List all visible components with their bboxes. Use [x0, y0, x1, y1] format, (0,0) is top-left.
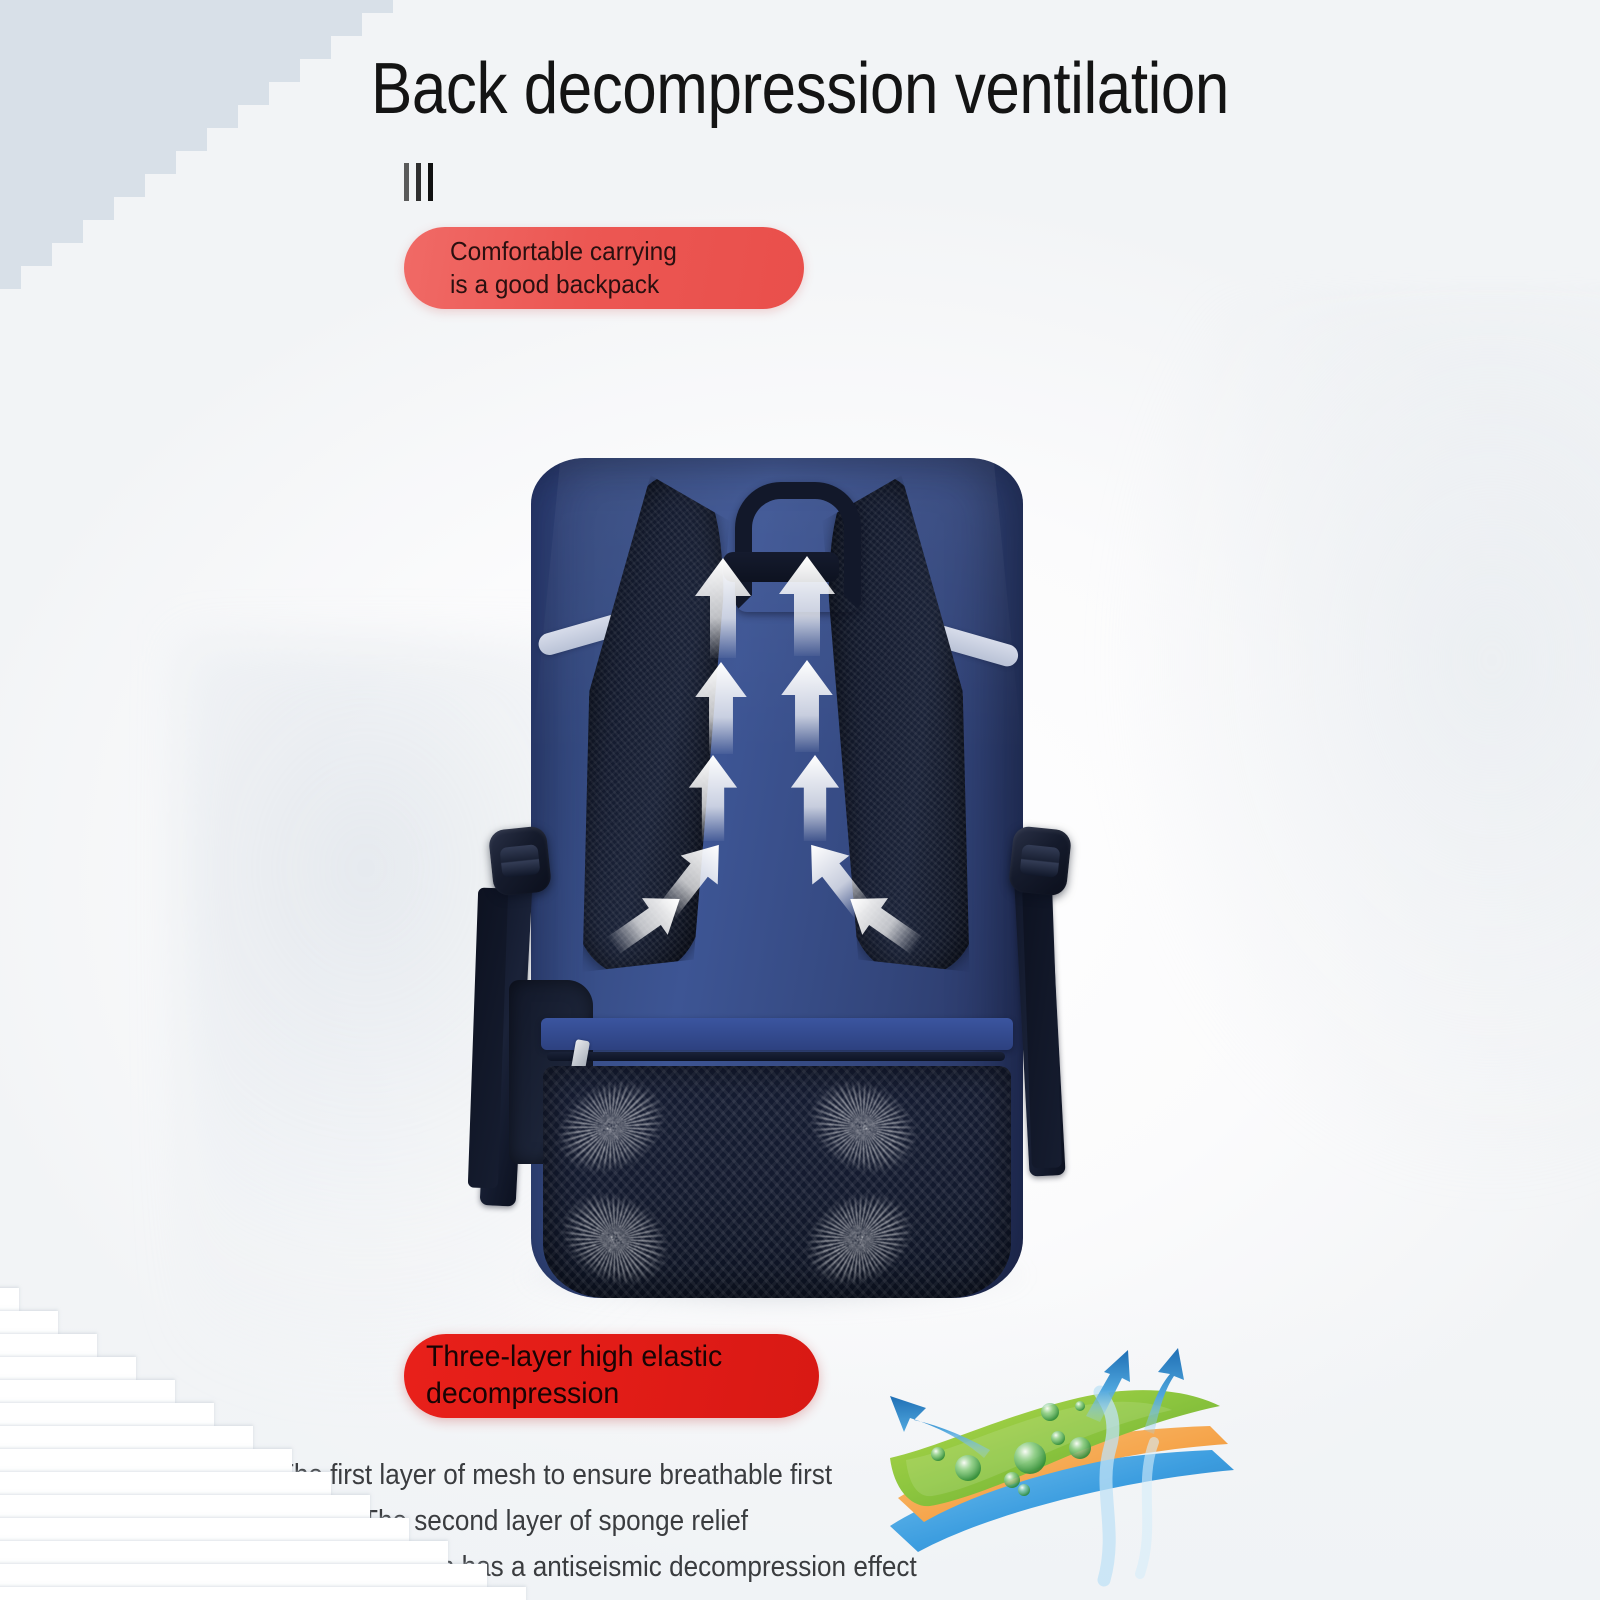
background-right-shadow — [1100, 300, 1600, 1200]
badge-three-layer-decompression: Three-layer high elastic decompression — [404, 1334, 819, 1418]
accent-band — [541, 1018, 1013, 1050]
badge-bottom-text: Three-layer high elastic decompression — [426, 1339, 722, 1412]
water-droplet — [1075, 1401, 1085, 1411]
water-droplet — [1069, 1437, 1091, 1459]
three-layer-material-graphic — [872, 1330, 1272, 1600]
layer-diagram-svg — [872, 1330, 1272, 1600]
zipper-line — [547, 1052, 1005, 1061]
badge-comfortable-carrying: Comfortable carrying is a good backpack — [404, 227, 804, 309]
product-marketing-image: Back decompression ventilation Comfortab… — [0, 0, 1600, 1600]
water-droplet — [1014, 1442, 1046, 1474]
strap-buckle-right — [1008, 825, 1073, 897]
arrow-shape — [695, 558, 751, 658]
water-droplet — [931, 1447, 945, 1461]
strap-buckle-left — [488, 825, 553, 897]
water-droplet — [1041, 1403, 1059, 1421]
water-droplet — [1018, 1484, 1030, 1496]
badge-top-text: Comfortable carrying is a good backpack — [450, 235, 677, 301]
arrow-shape — [695, 662, 747, 754]
page-title: Back decompression ventilation — [112, 48, 1488, 130]
arrow-shape — [689, 755, 737, 841]
water-droplet — [1004, 1472, 1020, 1488]
triple-bar-marker-icon — [404, 163, 433, 201]
backpack-illustration — [455, 440, 1095, 1320]
water-droplet — [955, 1455, 981, 1481]
water-droplet — [1051, 1431, 1065, 1445]
arrow-shape — [781, 660, 833, 752]
arrow-shape — [779, 556, 835, 656]
arrow-shape — [791, 755, 839, 841]
